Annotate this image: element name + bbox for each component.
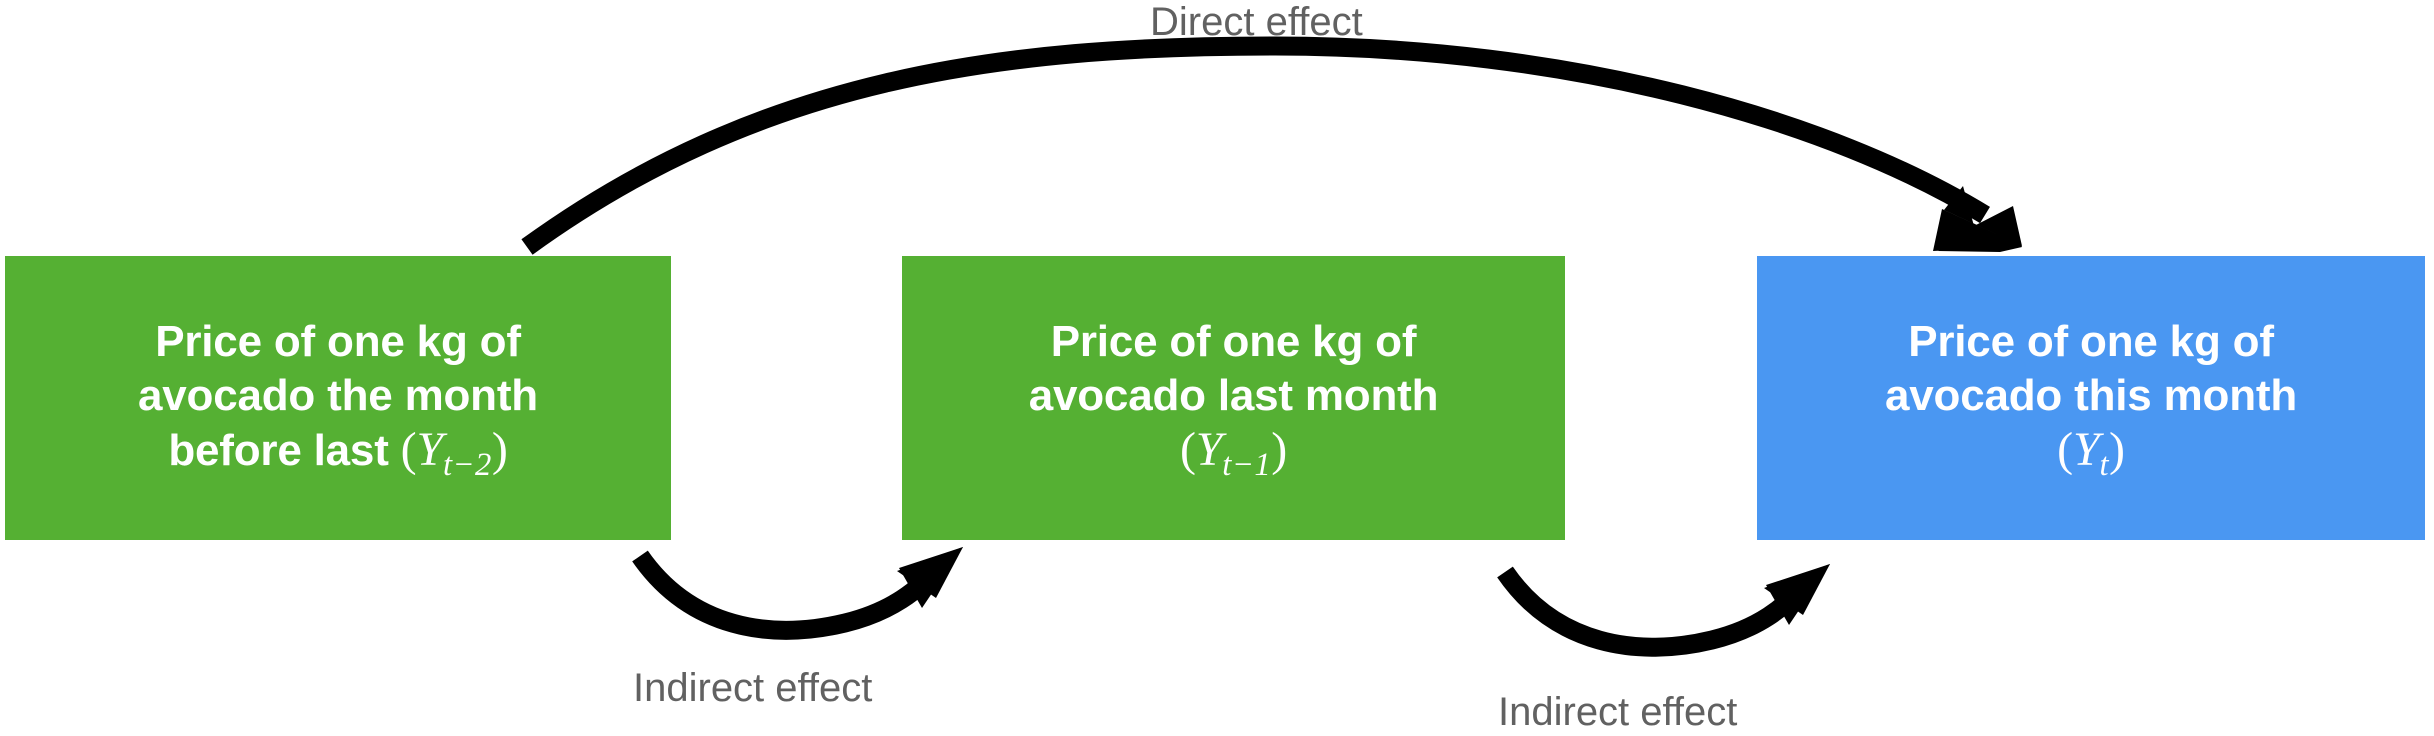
- symbol-subscript: t−1: [1222, 449, 1271, 482]
- symbol-y-t-minus-2: (Yt−2): [401, 426, 508, 481]
- diagram-canvas: Price of one kg of avocado the month bef…: [0, 0, 2434, 736]
- node-line-3: before last (Yt−2): [168, 424, 507, 481]
- node-price-avocado-last-month[interactable]: Price of one kg of avocado last month (Y…: [902, 256, 1565, 540]
- paren-close: ): [1271, 423, 1287, 476]
- symbol-subscript: t−2: [443, 449, 492, 482]
- node-line-3: (Yt−1): [1180, 424, 1287, 481]
- node-line-1: Price of one kg of: [1908, 315, 2274, 370]
- symbol-y-t: (Yt): [2057, 426, 2125, 481]
- paren-open: (: [401, 423, 417, 476]
- symbol-y-t-minus-1: (Yt−1): [1180, 426, 1287, 481]
- paren-open: (: [1180, 423, 1196, 476]
- paren-close: ): [492, 423, 508, 476]
- direct-effect-arrow: [527, 46, 2022, 252]
- node-price-avocado-month-before-last[interactable]: Price of one kg of avocado the month bef…: [5, 256, 671, 540]
- node-line-1: Price of one kg of: [155, 315, 521, 370]
- symbol-subscript: t: [2099, 449, 2109, 482]
- edge-label-indirect-effect-1: Indirect effect: [633, 668, 872, 708]
- node-line-3-text: before last: [168, 426, 400, 475]
- node-line-2: avocado last month: [1029, 369, 1439, 424]
- paren-close: ): [2109, 423, 2125, 476]
- node-line-3: (Yt): [2057, 424, 2125, 481]
- node-price-avocado-this-month[interactable]: Price of one kg of avocado this month (Y…: [1757, 256, 2425, 540]
- symbol-variable: Y: [2073, 423, 2100, 476]
- node-line-1: Price of one kg of: [1051, 315, 1417, 370]
- node-line-2: avocado the month: [138, 369, 538, 424]
- node-line-2: avocado this month: [1885, 369, 2297, 424]
- edge-label-indirect-effect-2: Indirect effect: [1498, 692, 1737, 732]
- indirect-effect-1-arrow: [640, 547, 963, 630]
- symbol-variable: Y: [416, 423, 443, 476]
- edge-label-direct-effect: Direct effect: [1150, 2, 1363, 42]
- indirect-effect-2-arrow: [1505, 564, 1830, 647]
- symbol-variable: Y: [1196, 423, 1223, 476]
- paren-open: (: [2057, 423, 2073, 476]
